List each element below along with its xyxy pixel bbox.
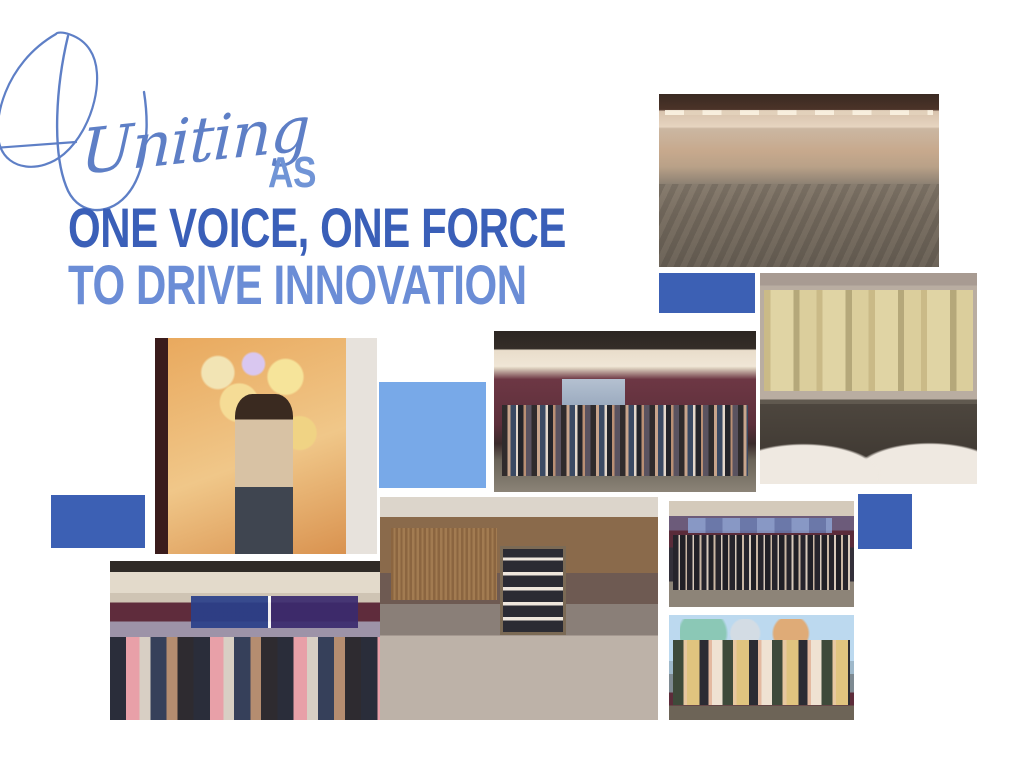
- accent-block-top-right: [659, 273, 755, 313]
- photo-group-auditorium: Large group photo of participants in an …: [494, 331, 756, 492]
- headline-as-word: AS: [268, 151, 316, 195]
- headline-block: Uniting AS ONE VOICE, ONE FORCE TO DRIVE…: [0, 26, 600, 296]
- photo-stage-group-selfie: Group of participants seated on a stage …: [669, 615, 854, 720]
- headline-line-3: TO DRIVE INNOVATION: [68, 258, 527, 312]
- accent-square-light-center: [379, 382, 486, 488]
- photo-conference-hall: Attendees in a conference hall with exhi…: [659, 94, 939, 267]
- photo-speaker-warm-slide: Man presenting with a microphone in fron…: [155, 338, 377, 554]
- photo-group-dark-shirts: Group photo of participants in dark shir…: [669, 501, 854, 607]
- photo-speaker-craft-screen: Woman speaking into a microphone on stag…: [760, 273, 977, 484]
- headline-line-2: ONE VOICE, ONE FORCE: [68, 201, 566, 255]
- photo-seminar-audience: Seminar room with attendees seated at ta…: [110, 561, 380, 720]
- accent-block-left: [51, 495, 145, 548]
- accent-block-right: [858, 494, 912, 549]
- photo-networking-lobby: Attendees networking and talking in a lo…: [380, 497, 658, 720]
- poster-canvas: Uniting AS ONE VOICE, ONE FORCE TO DRIVE…: [0, 0, 1024, 768]
